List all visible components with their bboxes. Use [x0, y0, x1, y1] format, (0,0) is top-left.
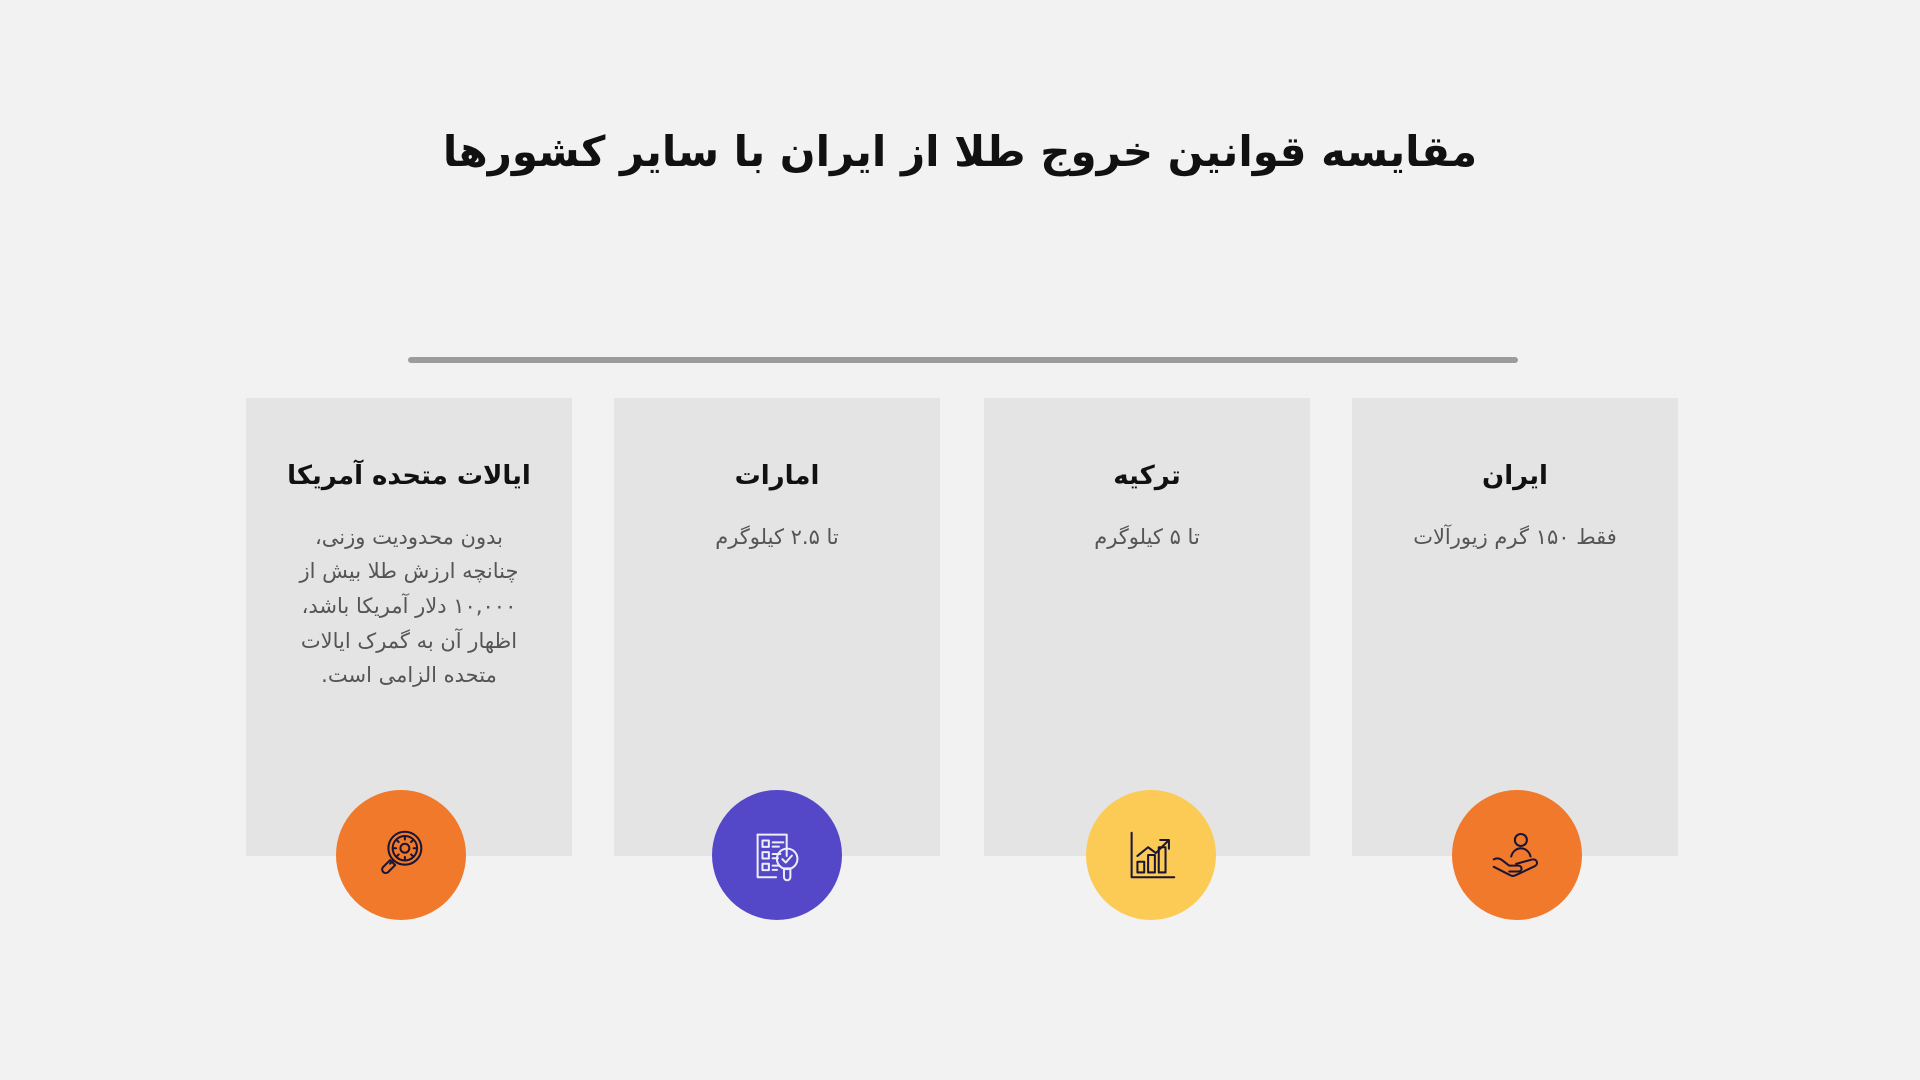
page-title: مقایسه قوانین خروج طلا از ایران با سایر …: [0, 126, 1920, 179]
magnifier-gear-icon: [370, 824, 432, 886]
country-card-uae[interactable]: اماراتتا ۲.۵ کیلوگرم: [614, 398, 940, 856]
checklist-verified-icon: [746, 824, 808, 886]
icon-badge-turkey[interactable]: [1086, 790, 1216, 920]
card-title-usa: ایالات متحده آمریکا: [272, 460, 546, 494]
infographic-canvas: مقایسه قوانین خروج طلا از ایران با سایر …: [0, 0, 1920, 1080]
country-card-turkey[interactable]: ترکیهتا ۵ کیلوگرم: [984, 398, 1310, 856]
card-body-usa: بدون محدودیت وزنی، چنانچه ارزش طلا بیش ا…: [294, 520, 524, 693]
card-title-uae: امارات: [640, 460, 914, 494]
country-card-usa[interactable]: ایالات متحده آمریکابدون محدودیت وزنی، چن…: [246, 398, 572, 856]
card-body-uae: تا ۲.۵ کیلوگرم: [641, 520, 913, 555]
card-title-turkey: ترکیه: [1010, 460, 1284, 494]
icon-badge-iran[interactable]: [1452, 790, 1582, 920]
country-card-iran[interactable]: ایرانفقط ۱۵۰ گرم زیورآلات: [1352, 398, 1678, 856]
growth-bar-chart-icon: [1120, 824, 1182, 886]
hand-person-care-icon: [1486, 824, 1548, 886]
card-title-iran: ایران: [1378, 460, 1652, 494]
timeline-track: [408, 357, 1518, 363]
timeline: [396, 340, 1530, 380]
cards-row: ایالات متحده آمریکابدون محدودیت وزنی، چن…: [0, 398, 1920, 868]
card-body-iran: فقط ۱۵۰ گرم زیورآلات: [1379, 520, 1651, 555]
icon-badge-usa[interactable]: [336, 790, 466, 920]
icon-badge-uae[interactable]: [712, 790, 842, 920]
card-body-turkey: تا ۵ کیلوگرم: [1011, 520, 1283, 555]
